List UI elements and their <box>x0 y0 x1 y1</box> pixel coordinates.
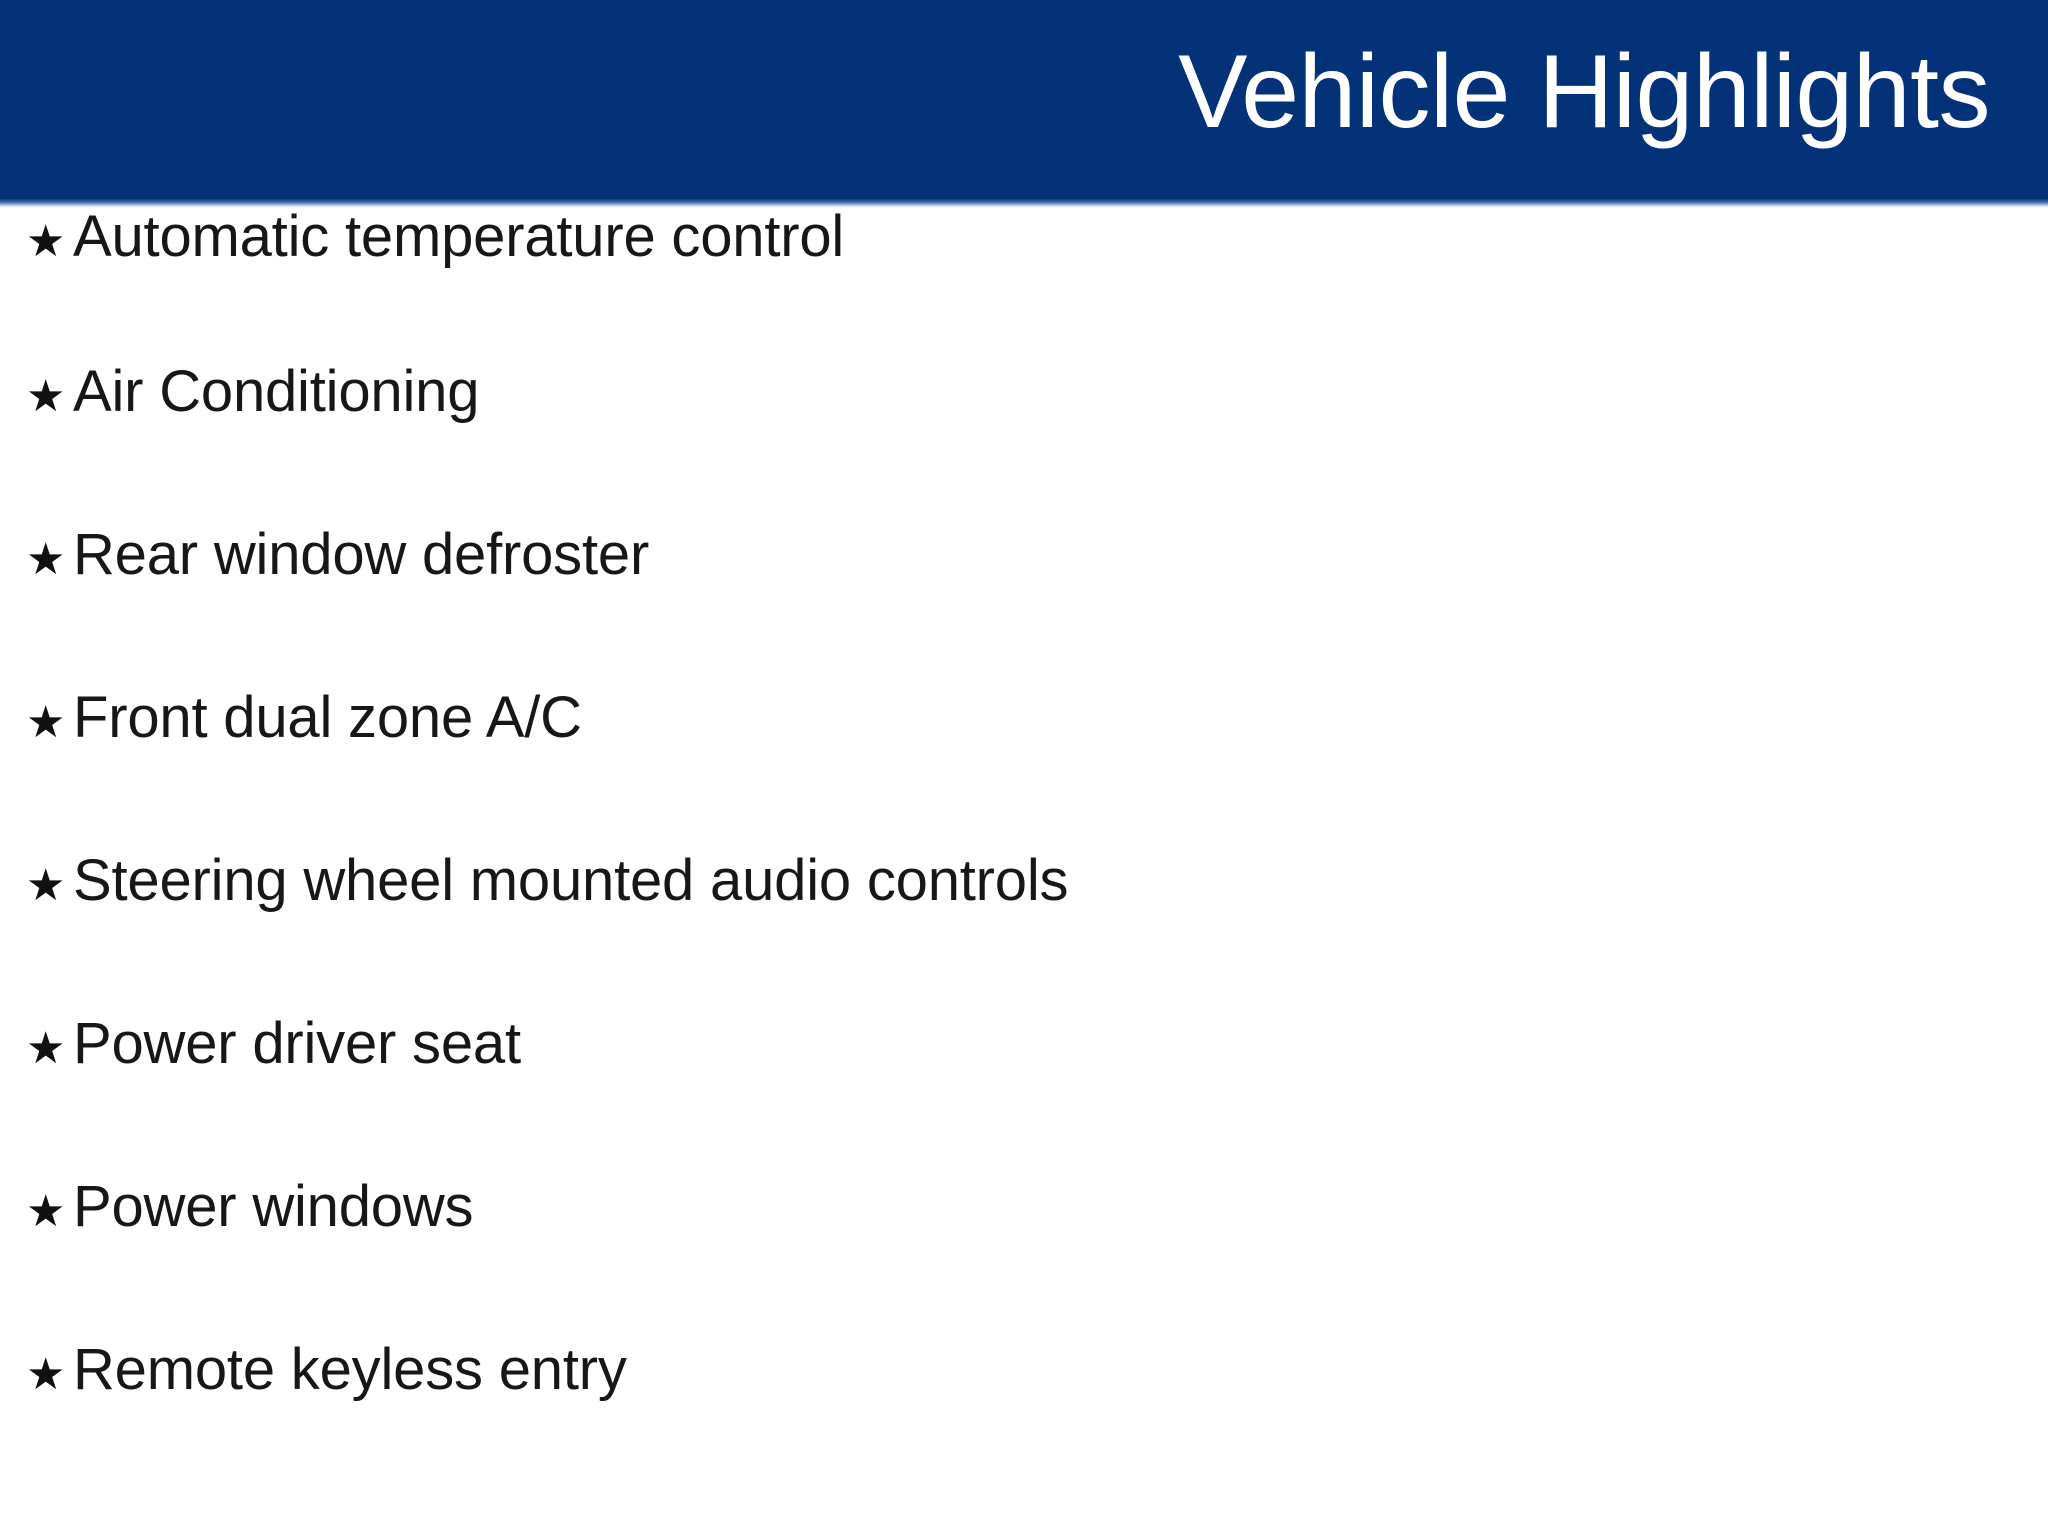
feature-label: Air Conditioning <box>73 363 479 421</box>
list-item: ★ Rear window defroster <box>0 526 2048 689</box>
feature-label: Front dual zone A/C <box>73 689 582 747</box>
feature-label: Steering wheel mounted audio controls <box>73 852 1068 910</box>
feature-label: Rear window defroster <box>73 526 649 584</box>
vehicle-highlights-slide: Vehicle Highlights ★ Automatic temperatu… <box>0 0 2048 1536</box>
list-item: ★ Steering wheel mounted audio controls <box>0 852 2048 1015</box>
list-item: ★ Front dual zone A/C <box>0 689 2048 852</box>
header-band: Vehicle Highlights <box>0 0 2048 199</box>
star-icon: ★ <box>26 701 73 745</box>
list-item: ★ Automatic temperature control <box>0 208 2048 363</box>
list-item: ★ Power driver seat <box>0 1015 2048 1178</box>
star-icon: ★ <box>26 864 73 908</box>
list-item: ★ Air Conditioning <box>0 363 2048 526</box>
star-icon: ★ <box>26 538 73 582</box>
feature-label: Power windows <box>73 1178 473 1236</box>
feature-label: Remote keyless entry <box>73 1341 627 1399</box>
feature-label: Automatic temperature control <box>73 208 844 266</box>
list-item: ★ Remote keyless entry <box>0 1341 2048 1504</box>
feature-label: Power driver seat <box>73 1015 521 1073</box>
star-icon: ★ <box>26 1353 73 1397</box>
star-icon: ★ <box>26 220 73 264</box>
page-title: Vehicle Highlights <box>1178 40 1990 144</box>
star-icon: ★ <box>26 1027 73 1071</box>
vehicle-feature-list: ★ Automatic temperature control ★ Air Co… <box>0 208 2048 1504</box>
list-item: ★ Power windows <box>0 1178 2048 1341</box>
star-icon: ★ <box>26 375 73 419</box>
star-icon: ★ <box>26 1190 73 1234</box>
